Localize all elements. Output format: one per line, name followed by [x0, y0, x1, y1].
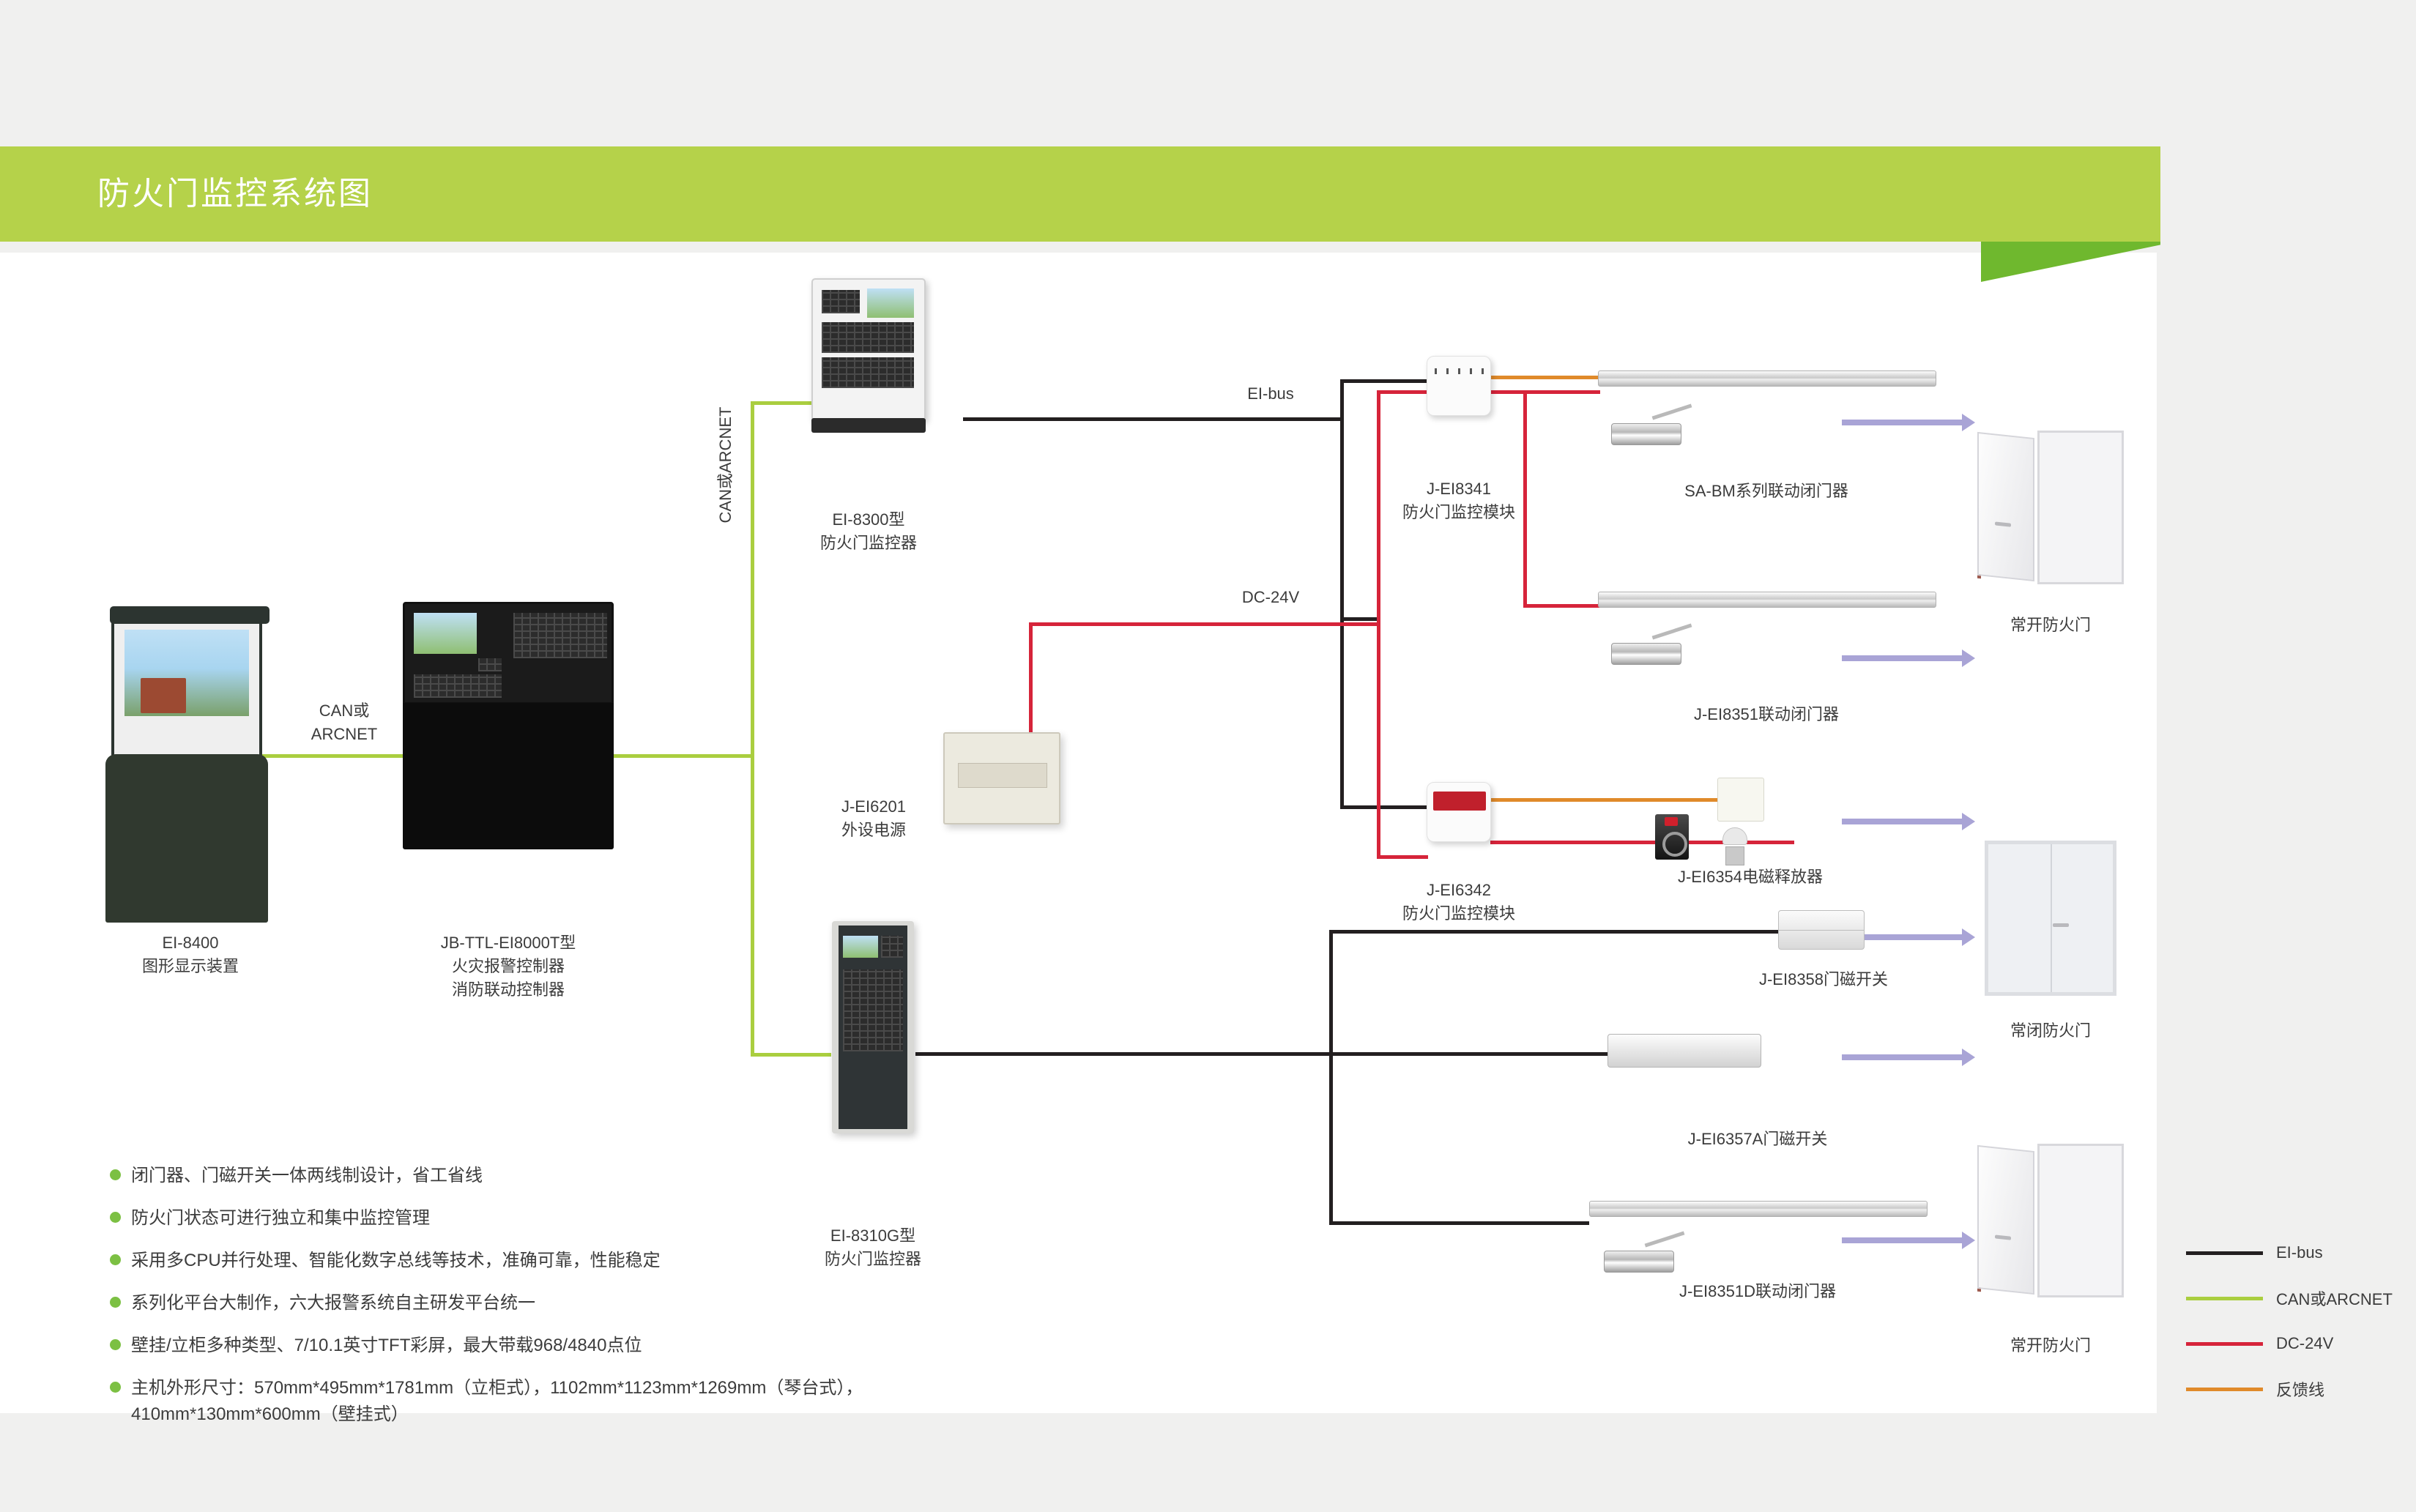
feature-item: 主机外形尺寸：570mm*495mm*1781mm（立柜式），1102mm*11…	[110, 1375, 989, 1428]
panel-screen	[414, 613, 477, 654]
label-closer-sabm: SA-BM系列联动闭门器	[1605, 480, 1928, 503]
feature-item: 采用多CPU并行处理、智能化数字总线等技术，准确可靠，性能稳定	[110, 1248, 989, 1274]
page-title: 防火门监控系统图	[97, 167, 373, 214]
electromagnetic-release-mount	[1721, 827, 1749, 867]
door-leaf-top	[1977, 432, 2034, 581]
wire-eibus-to-module-8341	[1340, 379, 1428, 383]
feature-text: 防火门状态可进行独立和集中监控管理	[131, 1205, 430, 1232]
legend-swatch-dc24v	[2186, 1342, 2263, 1346]
monitor-8310g-led-grid	[843, 969, 903, 1051]
console-top-bar	[110, 606, 270, 624]
label-magnet-switch-6357a: J-EI6357A门磁开关	[1633, 1128, 1882, 1151]
wire-eibus-to-magnet-6357a	[1329, 1052, 1611, 1056]
label-module-6342-desc: 防火门监控模块	[1364, 902, 1554, 926]
wire-eibus-to-module-6342	[1340, 805, 1428, 809]
label-graphic-display-model: EI-8400	[81, 931, 300, 955]
panel-keypad[interactable]	[478, 658, 502, 671]
device-monitor-ei8310g[interactable]	[832, 921, 914, 1133]
door-normally-closed	[1985, 841, 2116, 996]
wire-eibus-from-8300	[963, 417, 1344, 421]
wire-eibus-down-to-6342	[1340, 617, 1344, 808]
door-handle-icon-closed	[2053, 923, 2069, 927]
label-release-6354: J-EI6354电磁释放器	[1597, 865, 1904, 889]
wire-dc24v-psu-top	[1029, 622, 1380, 626]
device-fire-alarm-panel-jbttl[interactable]	[403, 602, 614, 909]
label-dc-24v: DC-24V	[1208, 586, 1333, 609]
legend-label: EI-bus	[2276, 1243, 2323, 1262]
monitor-8310g-front	[839, 926, 907, 1129]
closer-rail-sabm	[1598, 370, 1936, 387]
legend-swatch-can-arcnet	[2186, 1297, 2263, 1300]
label-monitor-8300-desc: 防火门监控器	[759, 532, 978, 555]
console-pedestal	[105, 754, 268, 923]
wire-dc24v-psu-riser	[1029, 622, 1033, 732]
door-leaf-bottom	[1977, 1145, 2034, 1295]
label-power-supply-desc: 外设电源	[789, 819, 958, 842]
door-normally-open-bottom	[1977, 1144, 2124, 1297]
feature-text: 采用多CPU并行处理、智能化数字总线等技术，准确可靠，性能稳定	[131, 1248, 661, 1274]
label-module-6342-model: J-EI6342	[1364, 879, 1554, 902]
wire-eibus-riser	[1340, 379, 1344, 621]
feature-text: 闭门器、门磁开关一体两线制设计，省工省线	[131, 1163, 483, 1189]
label-door-closed: 常闭防火门	[1948, 1019, 2153, 1043]
diagram-page: 防火门监控系统图 EI-8400 图形显示装置	[0, 0, 2416, 1512]
door-frame-top	[2037, 431, 2124, 584]
legend-label: CAN或ARCNET	[2276, 1286, 2393, 1310]
monitor-8300-keypad[interactable]	[822, 290, 860, 313]
device-monitor-ei8300[interactable]	[811, 278, 926, 421]
label-door-open-top: 常开防火门	[1948, 614, 2153, 637]
wire-feedback-module-6342	[1490, 798, 1717, 802]
legend-item-dc24v: DC-24V	[2186, 1321, 2393, 1366]
legend-swatch-ei-bus	[2186, 1251, 2263, 1255]
switch-small-6355	[1717, 778, 1764, 822]
arrow-to-door-open-bottom	[1842, 1237, 1963, 1243]
wire-can-arcnet-to-8310g	[751, 1053, 831, 1057]
label-fire-alarm-desc1: 火灾报警控制器	[398, 955, 618, 978]
legend-label: 反馈线	[2276, 1377, 2324, 1401]
label-can-arcnet-line1: CAN或	[264, 699, 425, 723]
label-can-arcnet-vertical: CAN或ARCNET	[714, 384, 737, 545]
feature-text-continuation: 410mm*130mm*600mm（壁挂式）	[131, 1401, 863, 1428]
wire-dc24v-to-module-8341	[1377, 390, 1428, 394]
label-magnet-switch-8358: J-EI8358门磁开关	[1706, 968, 1941, 991]
feature-list: 闭门器、门磁开关一体两线制设计，省工省线 防火门状态可进行独立和集中监控管理 采…	[110, 1163, 989, 1444]
door-closer-sabm	[1611, 423, 1681, 445]
legend-label: DC-24V	[2276, 1334, 2333, 1353]
device-graphic-display-ei8400[interactable]	[111, 614, 274, 921]
legend-item-feedback: 反馈线	[2186, 1366, 2393, 1412]
closer-rail-8351	[1598, 592, 1936, 608]
wire-eibus-to-magnet-8358	[1329, 930, 1780, 934]
wire-eibus-to-closer-8351d	[1329, 1221, 1589, 1225]
module-6342-led-panel	[1433, 792, 1486, 811]
wire-can-arcnet-vertical	[751, 401, 754, 1057]
console-screen	[124, 630, 249, 716]
arrow-to-door-open-top-2	[1842, 655, 1963, 661]
wire-eibus-dc24-branch	[1340, 617, 1380, 621]
label-graphic-display-desc: 图形显示装置	[81, 955, 300, 978]
feature-text: 壁挂/立柜多种类型、7/10.1英寸TFT彩屏，最大带载968/4840点位	[131, 1333, 642, 1359]
feature-text: 系列化平台大制作，六大报警系统自主研发平台统一	[131, 1290, 535, 1317]
device-module-jei8341[interactable]	[1427, 356, 1491, 416]
release-head-icon	[1722, 827, 1747, 845]
bullet-dot-icon	[110, 1382, 121, 1393]
feature-item: 系列化平台大制作，六大报警系统自主研发平台统一	[110, 1290, 989, 1317]
bullet-dot-icon	[110, 1169, 121, 1180]
monitor-8300-led-bank2	[822, 357, 914, 388]
door-frame-bottom	[2037, 1144, 2124, 1297]
monitor-8310g-keypad[interactable]	[881, 936, 903, 958]
feature-item: 壁挂/立柜多种类型、7/10.1英寸TFT彩屏，最大带载968/4840点位	[110, 1333, 989, 1359]
feature-item: 闭门器、门磁开关一体两线制设计，省工省线	[110, 1163, 989, 1189]
door-handle-icon-bottom	[1995, 1234, 2011, 1240]
wire-eibus-8310g-riser	[1329, 930, 1333, 1223]
magnetic-switch-8358	[1778, 910, 1865, 950]
wire-dc24v-main-riser	[1377, 390, 1380, 859]
legend-swatch-feedback	[2186, 1388, 2263, 1391]
magnetic-switch-6357a	[1607, 1034, 1761, 1068]
bullet-dot-icon	[110, 1212, 121, 1223]
label-power-supply-model: J-EI6201	[789, 795, 958, 819]
panel-led-grid-left	[414, 674, 502, 698]
release-magnet-ring-icon	[1662, 832, 1687, 857]
monitor-8300-led-bank1	[822, 322, 914, 353]
door-closer-8351	[1611, 643, 1681, 665]
legend-item-ei-bus: EI-bus	[2186, 1230, 2393, 1275]
panel-led-grid-right	[513, 613, 607, 658]
label-module-8341-desc: 防火门监控模块	[1364, 501, 1554, 524]
wire-dc24v-closer-8351-row	[1523, 604, 1604, 608]
monitor-8310g-screen	[843, 936, 878, 958]
legend-item-can-arcnet: CAN或ARCNET	[2186, 1275, 2393, 1321]
arrow-to-door-open-top	[1842, 420, 1963, 425]
wire-feedback-module-8341	[1490, 376, 1600, 379]
label-door-open-bottom: 常开防火门	[1948, 1334, 2153, 1358]
wire-dc24v-module-8341-out	[1490, 390, 1600, 394]
label-closer-8351d: J-EI8351D联动闭门器	[1597, 1280, 1919, 1303]
door-normally-open-top	[1977, 431, 2124, 584]
label-monitor-8300-model: EI-8300型	[759, 508, 978, 532]
closer-rail-8351d	[1589, 1201, 1928, 1217]
feature-text: 主机外形尺寸：570mm*495mm*1781mm（立柜式），1102mm*11…	[131, 1375, 863, 1401]
label-module-8341-model: J-EI8341	[1364, 477, 1554, 501]
device-module-jei6342[interactable]	[1427, 782, 1491, 842]
arrow-to-door-closed-1	[1842, 819, 1963, 824]
bullet-dot-icon	[110, 1339, 121, 1350]
release-base-icon	[1725, 846, 1744, 865]
label-closer-8351: J-EI8351联动闭门器	[1605, 703, 1928, 726]
door-closer-8351d	[1604, 1251, 1674, 1273]
bullet-dot-icon	[110, 1297, 121, 1308]
bullet-dot-icon	[110, 1254, 121, 1265]
release-button-icon	[1665, 817, 1678, 826]
power-supply-indicator-window	[958, 763, 1047, 788]
console-display-top	[111, 614, 262, 760]
label-fire-alarm-desc2: 消防联动控制器	[398, 978, 618, 1002]
device-power-supply-jei6201[interactable]	[943, 732, 1060, 824]
panel-lower-cabinet	[403, 703, 614, 849]
label-can-arcnet-line2: ARCNET	[264, 723, 425, 746]
feature-item: 防火门状态可进行独立和集中监控管理	[110, 1205, 989, 1232]
electromagnetic-release-6354	[1655, 814, 1689, 860]
label-ei-bus: EI-bus	[1208, 382, 1333, 406]
wire-eibus-from-8310g	[915, 1052, 1333, 1056]
monitor-8300-screen	[867, 288, 914, 318]
wire-dc24v-to-module-6342	[1377, 855, 1428, 859]
module-8341-leds	[1435, 368, 1484, 374]
legend: EI-bus CAN或ARCNET DC-24V 反馈线	[2186, 1230, 2393, 1412]
label-fire-alarm-model: JB-TTL-EI8000T型	[398, 931, 618, 955]
door-handle-icon	[1995, 521, 2011, 526]
arrow-to-door-closed-3	[1842, 1054, 1963, 1060]
monitor-8300-base	[811, 418, 926, 433]
panel-upper-section	[403, 602, 614, 704]
